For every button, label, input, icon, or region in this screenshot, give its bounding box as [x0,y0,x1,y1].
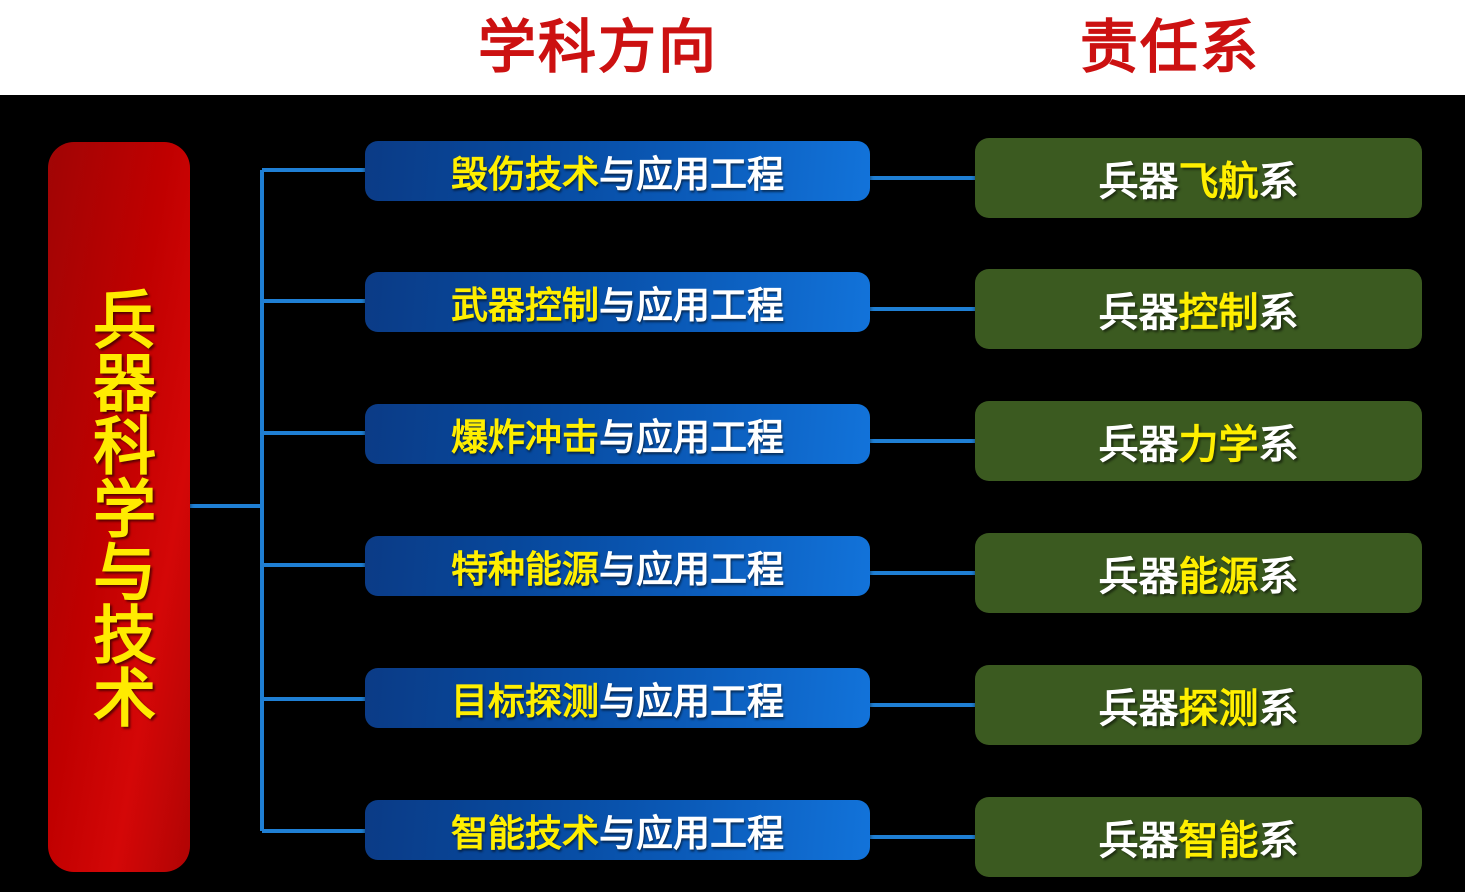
discipline-box-2[interactable]: 武器控制与应用工程 [365,272,870,332]
discipline-highlight-5: 目标探测 [451,671,599,725]
column-header-discipline: 学科方向 [478,10,718,86]
discipline-rest-3: 与应用工程 [599,407,784,461]
department-box-3[interactable]: 兵器力学系 [975,401,1422,481]
department-suffix-1: 系 [1259,149,1299,207]
department-box-4[interactable]: 兵器能源系 [975,533,1422,613]
column-header-department: 责任系 [1080,10,1260,86]
department-prefix-1: 兵器 [1099,149,1179,207]
discipline-rest-1: 与应用工程 [599,144,784,198]
discipline-rest-4: 与应用工程 [599,539,784,593]
department-prefix-2: 兵器 [1099,280,1179,338]
root-node-label: 兵器科学与技术 [48,142,190,872]
department-prefix-5: 兵器 [1099,676,1179,734]
department-highlight-4: 能源 [1179,544,1259,602]
discipline-rest-2: 与应用工程 [599,275,784,329]
department-prefix-6: 兵器 [1099,808,1179,866]
discipline-rest-6: 与应用工程 [599,803,784,857]
department-suffix-6: 系 [1259,808,1299,866]
discipline-box-4[interactable]: 特种能源与应用工程 [365,536,870,596]
discipline-highlight-3: 爆炸冲击 [451,407,599,461]
department-prefix-3: 兵器 [1099,412,1179,470]
department-highlight-2: 控制 [1179,280,1259,338]
header-band: 学科方向 责任系 [0,0,1465,95]
department-prefix-4: 兵器 [1099,544,1179,602]
discipline-highlight-4: 特种能源 [451,539,599,593]
department-box-6[interactable]: 兵器智能系 [975,797,1422,877]
discipline-box-1[interactable]: 毁伤技术与应用工程 [365,141,870,201]
discipline-highlight-6: 智能技术 [451,803,599,857]
department-box-2[interactable]: 兵器控制系 [975,269,1422,349]
discipline-highlight-1: 毁伤技术 [451,144,599,198]
department-suffix-2: 系 [1259,280,1299,338]
department-suffix-4: 系 [1259,544,1299,602]
discipline-box-3[interactable]: 爆炸冲击与应用工程 [365,404,870,464]
discipline-highlight-2: 武器控制 [451,275,599,329]
department-box-5[interactable]: 兵器探测系 [975,665,1422,745]
department-box-1[interactable]: 兵器飞航系 [975,138,1422,218]
diagram-canvas: 学科方向 责任系 兵器科学与技术 毁伤技术与 [0,0,1465,892]
department-highlight-5: 探测 [1179,676,1259,734]
discipline-box-5[interactable]: 目标探测与应用工程 [365,668,870,728]
discipline-rest-5: 与应用工程 [599,671,784,725]
department-highlight-6: 智能 [1179,808,1259,866]
root-node-weapon-science[interactable]: 兵器科学与技术 [48,142,190,872]
department-highlight-3: 力学 [1179,412,1259,470]
discipline-box-6[interactable]: 智能技术与应用工程 [365,800,870,860]
department-suffix-3: 系 [1259,412,1299,470]
department-highlight-1: 飞航 [1179,149,1259,207]
department-suffix-5: 系 [1259,676,1299,734]
